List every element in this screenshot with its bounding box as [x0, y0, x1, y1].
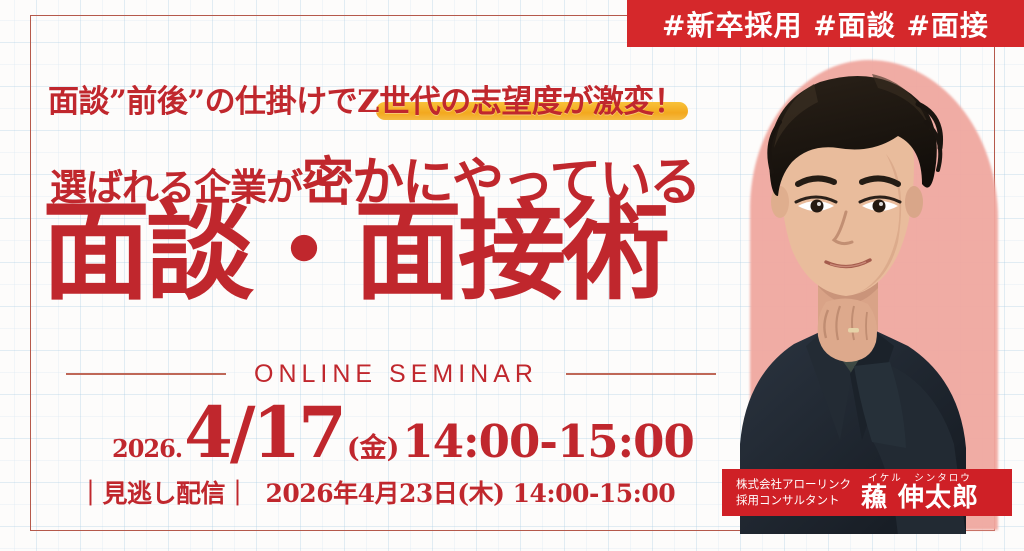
event-date-line: 2026. 4/17 (金) 14:00-15:00 [112, 398, 712, 460]
rule-left [66, 373, 226, 375]
rule-right [566, 373, 716, 375]
speaker-role: 採用コンサルタント [736, 493, 851, 509]
event-day-of-week: (金) [347, 426, 400, 465]
copy-line-1: 面談”前後”の仕掛けでZ世代の志望度が激変！ [48, 76, 708, 120]
archive-datetime: 2026年4月23日(木) 14:00-15:00 [266, 474, 676, 510]
speaker-furigana: イケル シンタロウ [868, 474, 972, 484]
event-day: 4/17 [184, 398, 344, 468]
seminar-banner: #新卒採用 #面談 #面接 面談”前後”の仕掛けでZ世代の志望度が激変！ 選ばれ… [0, 0, 1024, 551]
online-seminar-row: ONLINE SEMINAR [48, 360, 678, 388]
speaker-credit: 株式会社アローリンク 採用コンサルタント イケル シンタロウ 蘓 伸太郎 [722, 469, 1012, 516]
online-seminar-label: ONLINE SEMINAR [254, 360, 538, 389]
speaker-name-block: イケル シンタロウ 蘓 伸太郎 [861, 474, 979, 512]
archive-tag: ｜見逃し配信｜ [78, 474, 250, 510]
event-year: 2026. [112, 434, 182, 463]
speaker-name: 蘓 伸太郎 [861, 485, 979, 511]
speaker-company: 株式会社アローリンク [736, 477, 851, 493]
speaker-photo [716, 44, 1016, 534]
hashtag-text: #新卒採用 #面談 #面接 [662, 4, 989, 44]
main-title: 面談・面接術 [42, 196, 732, 308]
hashtag-banner: #新卒採用 #面談 #面接 [627, 0, 1024, 47]
event-time: 14:00-15:00 [402, 415, 693, 468]
copy-line-1-plain: 面談”前後”の仕掛けで [48, 76, 357, 121]
copy-line-1-highlight: Z世代の志望度が激変！ [357, 76, 684, 121]
speaker-portrait-illustration [722, 44, 990, 534]
speaker-company-block: 株式会社アローリンク 採用コンサルタント [736, 477, 851, 508]
archive-line: ｜見逃し配信｜ 2026年4月23日(木) 14:00-15:00 [78, 476, 698, 508]
